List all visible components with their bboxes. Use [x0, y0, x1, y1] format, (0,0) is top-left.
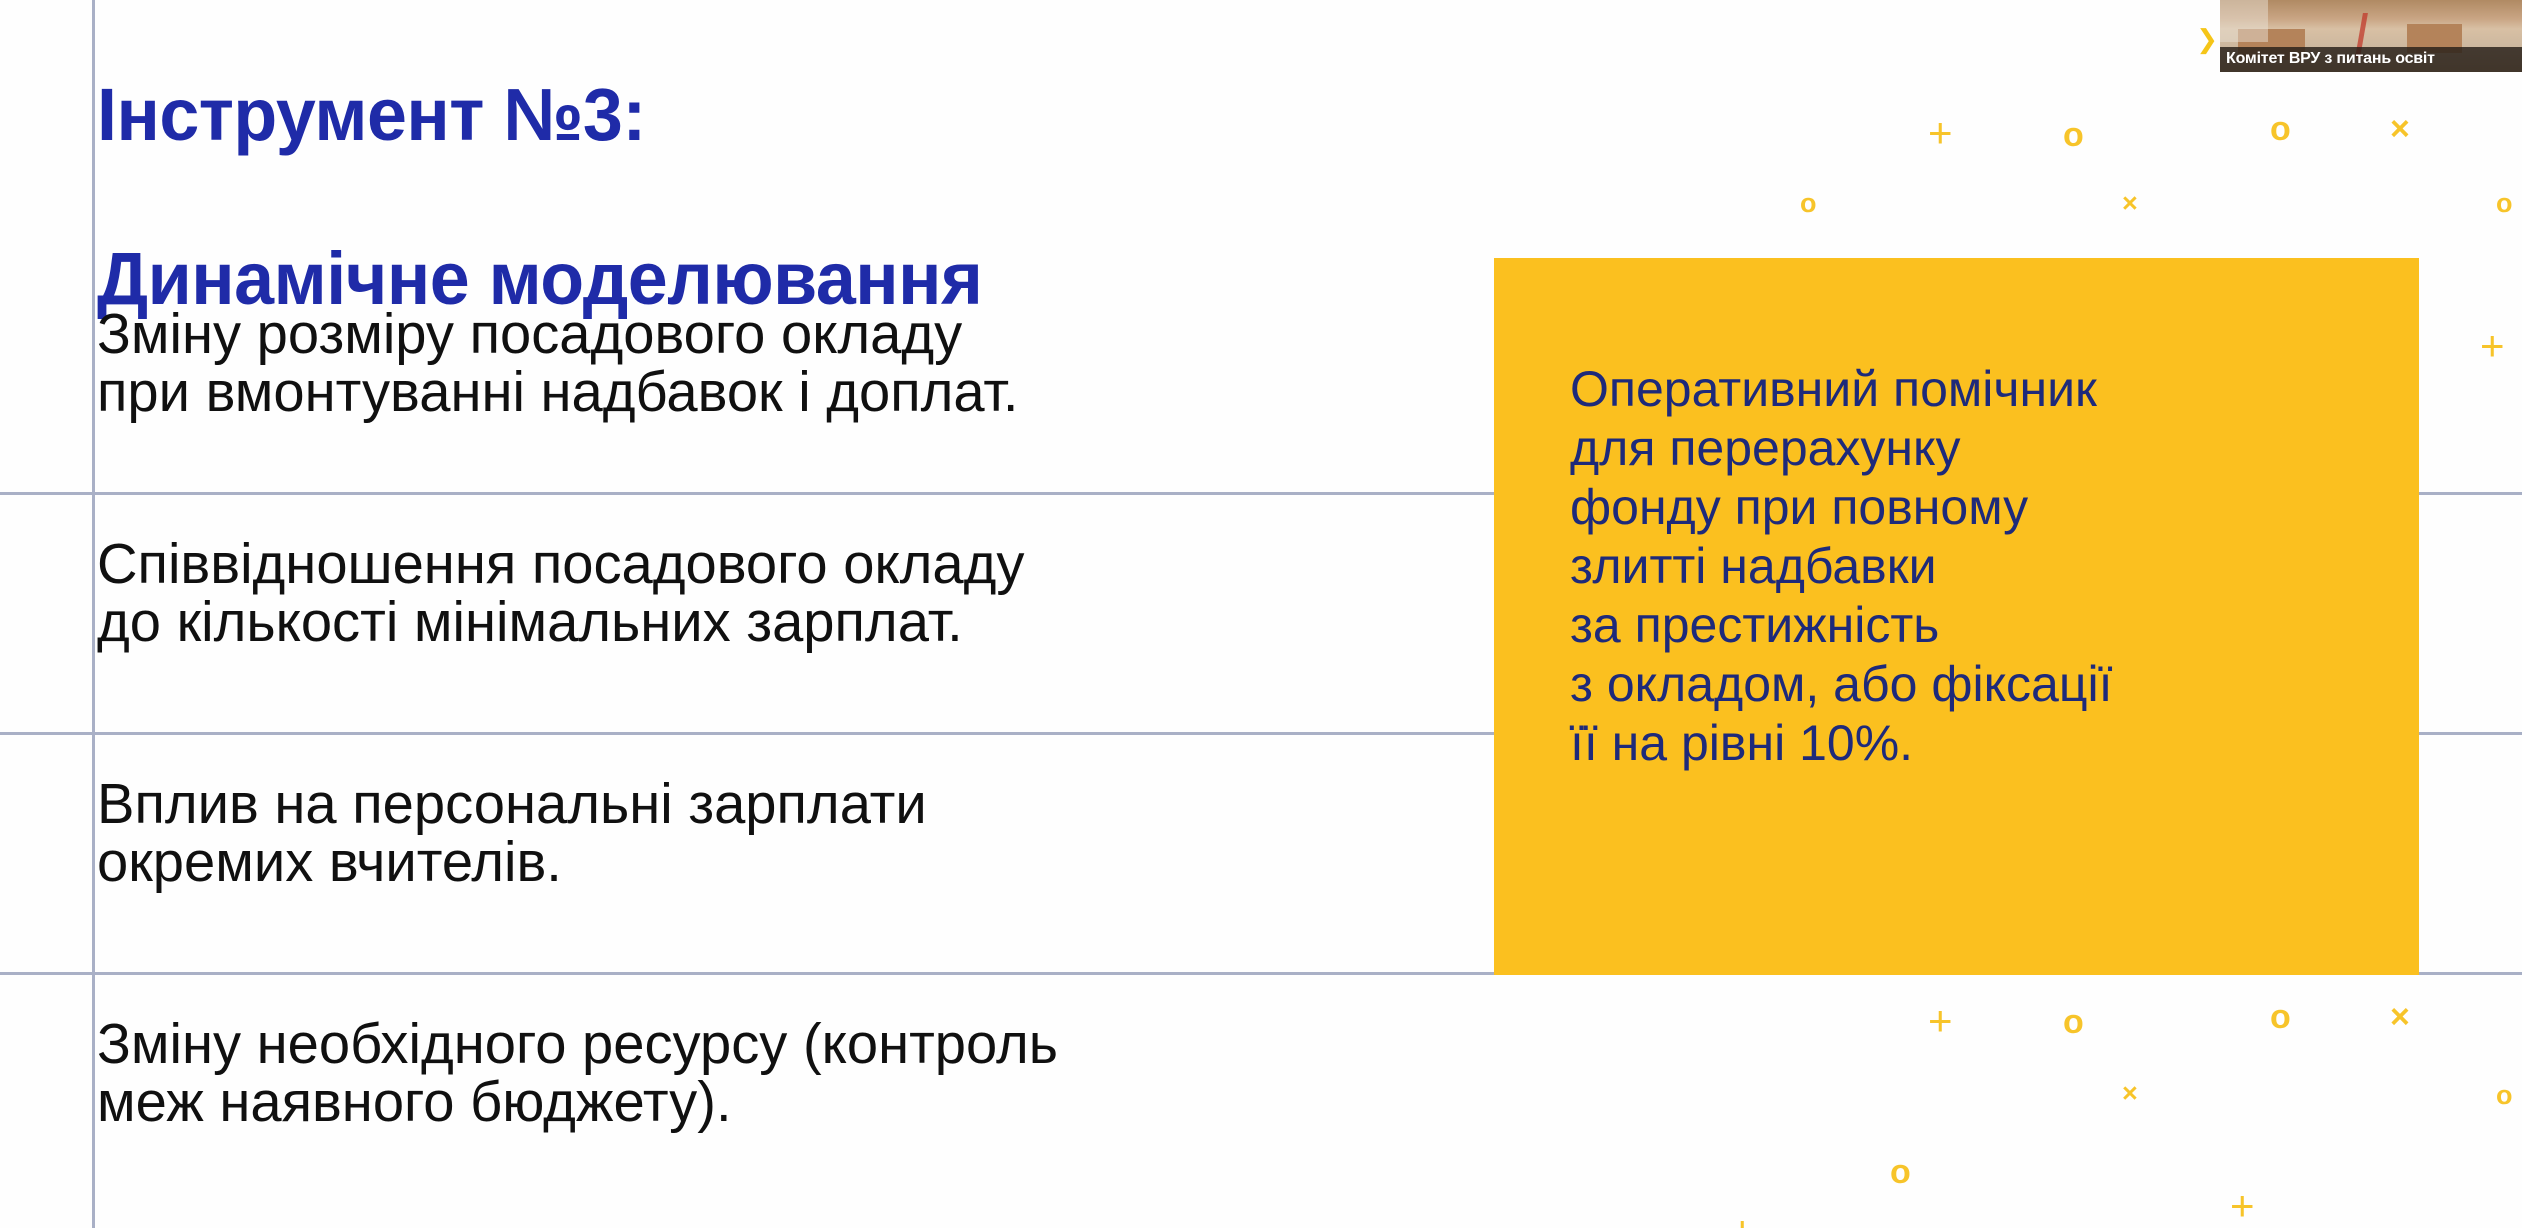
decoration-circle-icon: o: [2063, 118, 2084, 152]
decoration-plus-icon: +: [2480, 325, 2505, 367]
title-line-1: Інструмент №3:: [97, 78, 982, 152]
decoration-plus-icon: +: [1730, 1210, 1755, 1228]
decoration-circle-icon: o: [2270, 112, 2291, 146]
decoration-plus-icon: +: [1928, 112, 1953, 154]
bullet-text-2: Співвідношення посадового окладу до кіль…: [97, 535, 1024, 651]
decoration-circle-icon: o: [2063, 1005, 2084, 1039]
decoration-cross-icon: ×: [2122, 1080, 2138, 1107]
decoration-circle-icon: o: [2496, 190, 2513, 217]
decoration-cross-icon: ×: [2390, 112, 2410, 146]
decoration-cross-icon: ×: [2122, 190, 2138, 217]
decoration-circle-icon: o: [2496, 1082, 2513, 1109]
decoration-circle-icon: o: [2270, 1000, 2291, 1034]
bullet-text-4: Зміну необхідного ресурсу (контроль меж …: [97, 1015, 1058, 1131]
bullet-text-3: Вплив на персональні зарплати окремих вч…: [97, 775, 927, 891]
vertical-rule: [92, 0, 95, 1228]
slide-canvas: Інструмент №3: Динамічне моделювання Змі…: [0, 0, 2522, 1228]
decoration-plus-icon: +: [1928, 1000, 1953, 1042]
decoration-plus-icon: +: [2230, 1185, 2255, 1227]
decoration-circle-icon: o: [1890, 1155, 1911, 1189]
callout-box: Оперативний помічник для перерахунку фон…: [1494, 258, 2419, 975]
video-caption: Комітет ВРУ з питань освіт: [2220, 47, 2522, 72]
video-thumbnail[interactable]: Комітет ВРУ з питань освіт: [2220, 0, 2522, 72]
decoration-circle-icon: o: [1800, 190, 1817, 217]
bullet-text-1: Зміну розміру посадового окладу при вмон…: [97, 305, 1019, 421]
decoration-cross-icon: ×: [2390, 1000, 2410, 1034]
callout-text: Оперативний помічник для перерахунку фон…: [1570, 360, 2112, 773]
chevron-right-icon[interactable]: ❯: [2196, 26, 2218, 52]
